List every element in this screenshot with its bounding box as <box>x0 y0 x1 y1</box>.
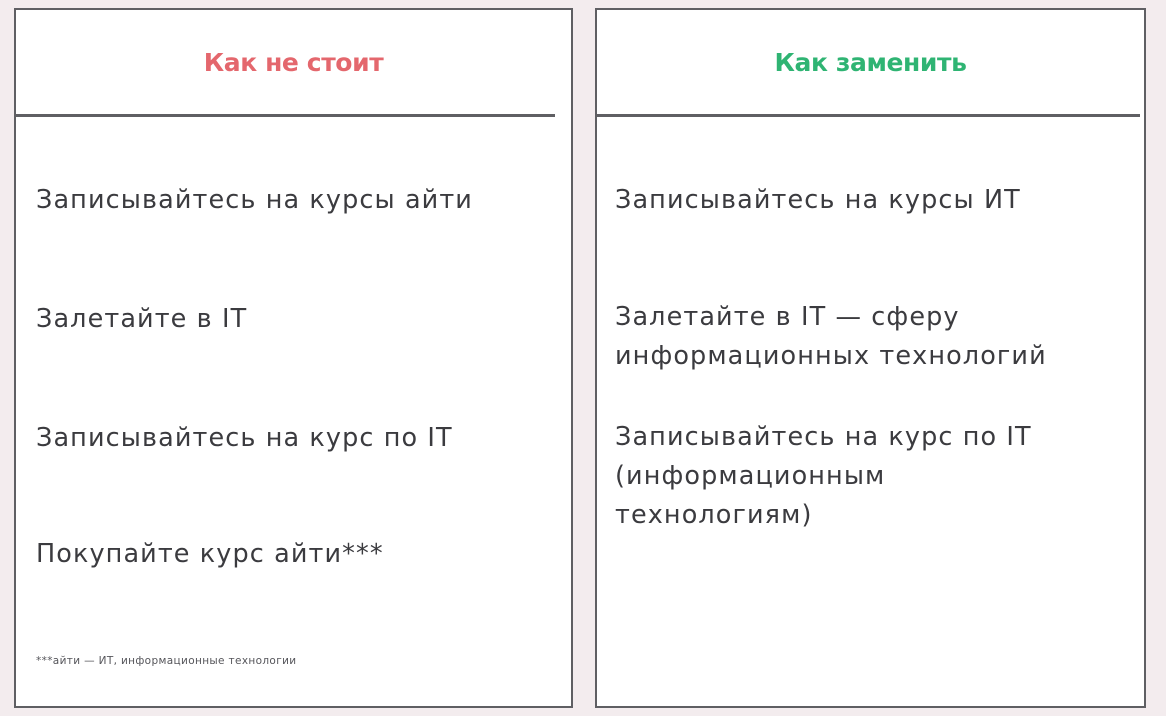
card-body-bad: Записывайтесь на курсы айти Залетайте в … <box>16 117 571 706</box>
phrase-item: Записывайтесь на курсы айти <box>36 181 556 220</box>
card-how-to-replace: Как заменить Записывайтесь на курсы ИТ З… <box>595 8 1146 708</box>
comparison-board: Как не стоит Записывайтесь на курсы айти… <box>0 0 1166 716</box>
phrase-item: Записывайтесь на курс по IT (информацион… <box>615 418 1130 535</box>
card-header-bad: Как не стоит <box>16 10 571 114</box>
footnote-text: ***айти — ИТ, информационные технологии <box>36 655 296 667</box>
card-how-not-to: Как не стоит Записывайтесь на курсы айти… <box>14 8 573 708</box>
phrase-item: Записывайтесь на курсы ИТ <box>615 181 1130 220</box>
card-title-how-to-replace: Как заменить <box>774 48 966 77</box>
phrase-item: Залетайте в IT — сферу информационных те… <box>615 298 1130 376</box>
card-title-how-not-to: Как не стоит <box>204 48 384 77</box>
phrase-item: Покупайте курс айти*** <box>36 535 556 574</box>
phrase-item: Записывайтесь на курс по IT <box>36 419 556 458</box>
card-header-good: Как заменить <box>597 10 1144 114</box>
phrase-item: Залетайте в IT <box>36 300 556 339</box>
card-body-good: Записывайтесь на курсы ИТ Залетайте в IT… <box>597 117 1144 706</box>
